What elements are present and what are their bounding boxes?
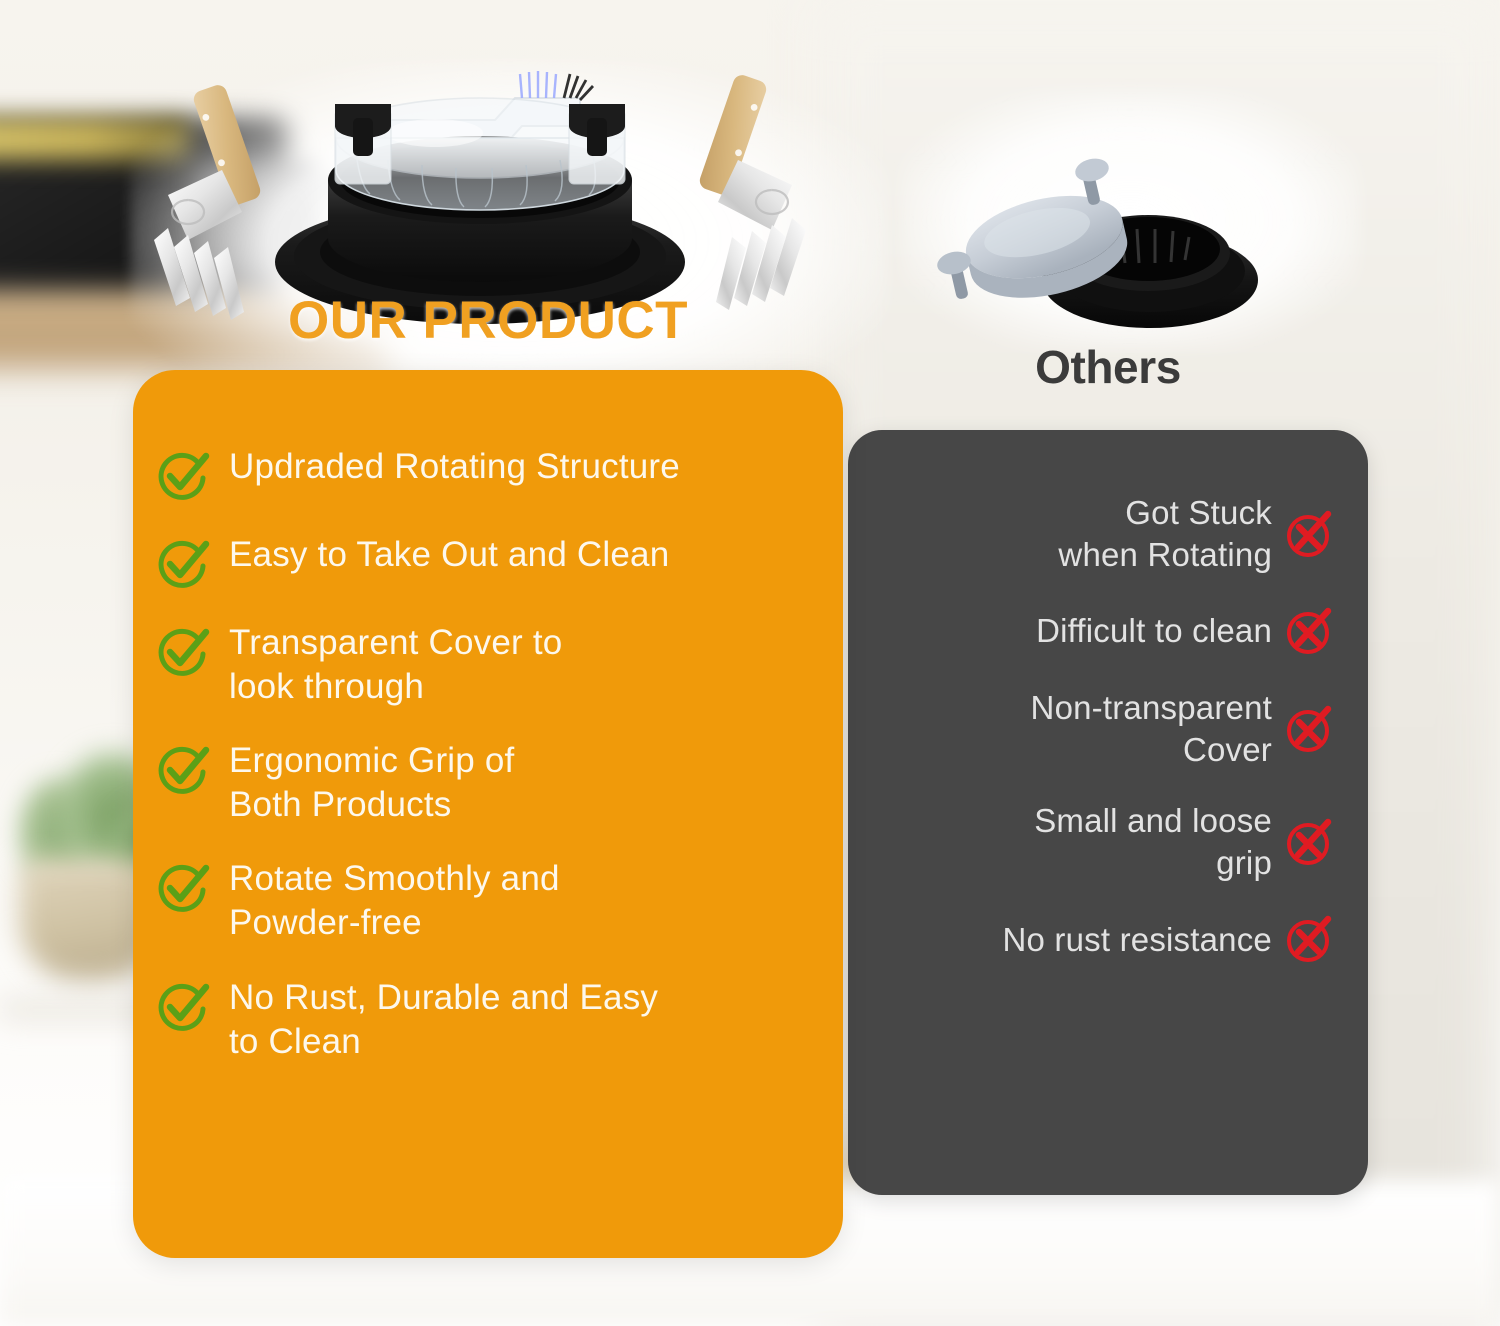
cross-circle-icon: [1282, 913, 1334, 965]
list-item: Small and loose grip: [874, 800, 1334, 883]
cross-circle-icon: [1282, 816, 1334, 868]
list-item: Updraded Rotating Structure: [155, 445, 803, 503]
our-product-title: OUR PRODUCT: [133, 290, 843, 351]
others-product-image: [935, 145, 1265, 340]
list-item: Difficult to clean: [874, 605, 1334, 657]
check-circle-icon: [155, 978, 211, 1034]
cover-latch-left: [335, 104, 391, 184]
meat-claw-left: [154, 83, 263, 320]
list-item-label: No rust resistance: [1002, 919, 1272, 961]
list-item: Non-transparent Cover: [874, 687, 1334, 770]
list-item: Transparent Cover to look through: [155, 621, 803, 709]
list-item-label: Difficult to clean: [1036, 610, 1272, 652]
list-item-label: Updraded Rotating Structure: [229, 445, 680, 489]
others-panel: Got Stuck when Rotating Difficult to cle…: [848, 430, 1368, 1195]
check-circle-icon: [155, 859, 211, 915]
list-item: Got Stuck when Rotating: [874, 492, 1334, 575]
list-item: No Rust, Durable and Easy to Clean: [155, 976, 803, 1064]
check-circle-icon: [155, 447, 211, 503]
check-circle-icon: [155, 623, 211, 679]
list-item: Ergonomic Grip of Both Products: [155, 739, 803, 827]
list-item-label: No Rust, Durable and Easy to Clean: [229, 976, 658, 1064]
cross-circle-icon: [1282, 605, 1334, 657]
list-item: Easy to Take Out and Clean: [155, 533, 803, 591]
list-item-label: Rotate Smoothly and Powder-free: [229, 857, 560, 945]
cover-latch-right: [569, 104, 625, 184]
list-item: Rotate Smoothly and Powder-free: [155, 857, 803, 945]
cross-circle-icon: [1282, 703, 1334, 755]
our-product-feature-list: Updraded Rotating Structure Easy to Take…: [155, 445, 803, 1064]
others-title: Others: [848, 340, 1368, 394]
list-item-label: Non-transparent Cover: [1031, 687, 1272, 770]
cross-circle-icon: [1282, 508, 1334, 560]
list-item-label: Transparent Cover to look through: [229, 621, 562, 709]
others-drawback-list: Got Stuck when Rotating Difficult to cle…: [874, 492, 1334, 965]
our-product-panel: Updraded Rotating Structure Easy to Take…: [133, 370, 843, 1258]
others-lid-handle-left: [935, 248, 973, 299]
check-circle-icon: [155, 741, 211, 797]
list-item-label: Small and loose grip: [1034, 800, 1272, 883]
meat-claw-right: [697, 73, 806, 310]
list-item-label: Easy to Take Out and Clean: [229, 533, 669, 577]
list-item-label: Got Stuck when Rotating: [1058, 492, 1272, 575]
list-item: No rust resistance: [874, 913, 1334, 965]
check-circle-icon: [155, 535, 211, 591]
list-item-label: Ergonomic Grip of Both Products: [229, 739, 514, 827]
